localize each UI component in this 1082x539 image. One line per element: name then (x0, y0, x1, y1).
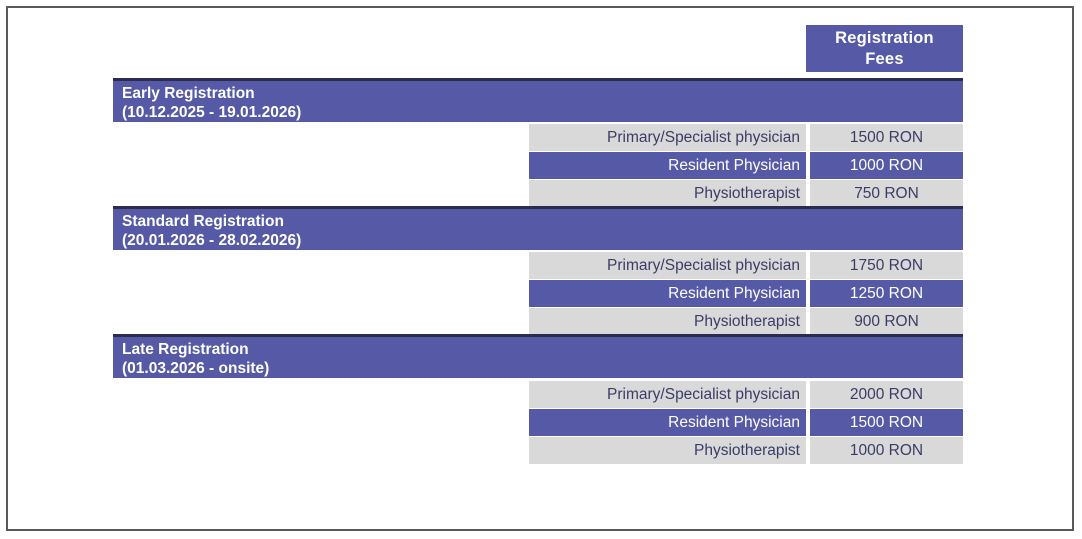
row-fee-late-resident: 1500 RON (810, 409, 963, 436)
row-fee-late-physio: 1000 RON (810, 437, 963, 464)
row-label-standard-physio: Physiotherapist (529, 308, 806, 335)
row-fee-standard-physio: 900 RON (810, 308, 963, 335)
row-label-late-physio: Physiotherapist (529, 437, 806, 464)
table-row: Physiotherapist 1000 RON (529, 437, 963, 464)
table-row: Primary/Specialist physician 2000 RON (529, 381, 963, 408)
table-row: Physiotherapist 900 RON (529, 308, 963, 335)
registration-fees-table-canvas: Registration Fees Early Registration (10… (0, 0, 1082, 539)
row-label-early-resident: Resident Physician (529, 152, 806, 179)
registration-fees-column-header: Registration Fees (806, 25, 963, 72)
row-fee-late-primary: 2000 RON (810, 381, 963, 408)
row-label-late-primary: Primary/Specialist physician (529, 381, 806, 408)
table-row: Resident Physician 1250 RON (529, 280, 963, 307)
row-label-standard-primary: Primary/Specialist physician (529, 252, 806, 279)
row-fee-standard-resident: 1250 RON (810, 280, 963, 307)
row-fee-early-resident: 1000 RON (810, 152, 963, 179)
section-dates-standard: (20.01.2026 - 28.02.2026) (122, 231, 963, 250)
row-fee-early-primary: 1500 RON (810, 124, 963, 151)
section-title-late: Late Registration (122, 340, 963, 359)
section-title-early: Early Registration (122, 84, 963, 103)
row-label-late-resident: Resident Physician (529, 409, 806, 436)
row-label-standard-resident: Resident Physician (529, 280, 806, 307)
row-fee-early-physio: 750 RON (810, 180, 963, 207)
section-header-early-registration: Early Registration (10.12.2025 - 19.01.2… (113, 78, 963, 122)
table-row: Resident Physician 1000 RON (529, 152, 963, 179)
section-header-late-registration: Late Registration (01.03.2026 - onsite) (113, 334, 963, 378)
registration-fees-header-line1: Registration (835, 28, 934, 49)
row-label-early-primary: Primary/Specialist physician (529, 124, 806, 151)
row-fee-standard-primary: 1750 RON (810, 252, 963, 279)
section-title-standard: Standard Registration (122, 212, 963, 231)
table-row: Primary/Specialist physician 1500 RON (529, 124, 963, 151)
table-row: Primary/Specialist physician 1750 RON (529, 252, 963, 279)
table-row: Physiotherapist 750 RON (529, 180, 963, 207)
section-dates-late: (01.03.2026 - onsite) (122, 359, 963, 378)
table-row: Resident Physician 1500 RON (529, 409, 963, 436)
registration-fees-header-line2: Fees (865, 49, 903, 70)
section-header-standard-registration: Standard Registration (20.01.2026 - 28.0… (113, 206, 963, 250)
row-label-early-physio: Physiotherapist (529, 180, 806, 207)
section-dates-early: (10.12.2025 - 19.01.2026) (122, 103, 963, 122)
